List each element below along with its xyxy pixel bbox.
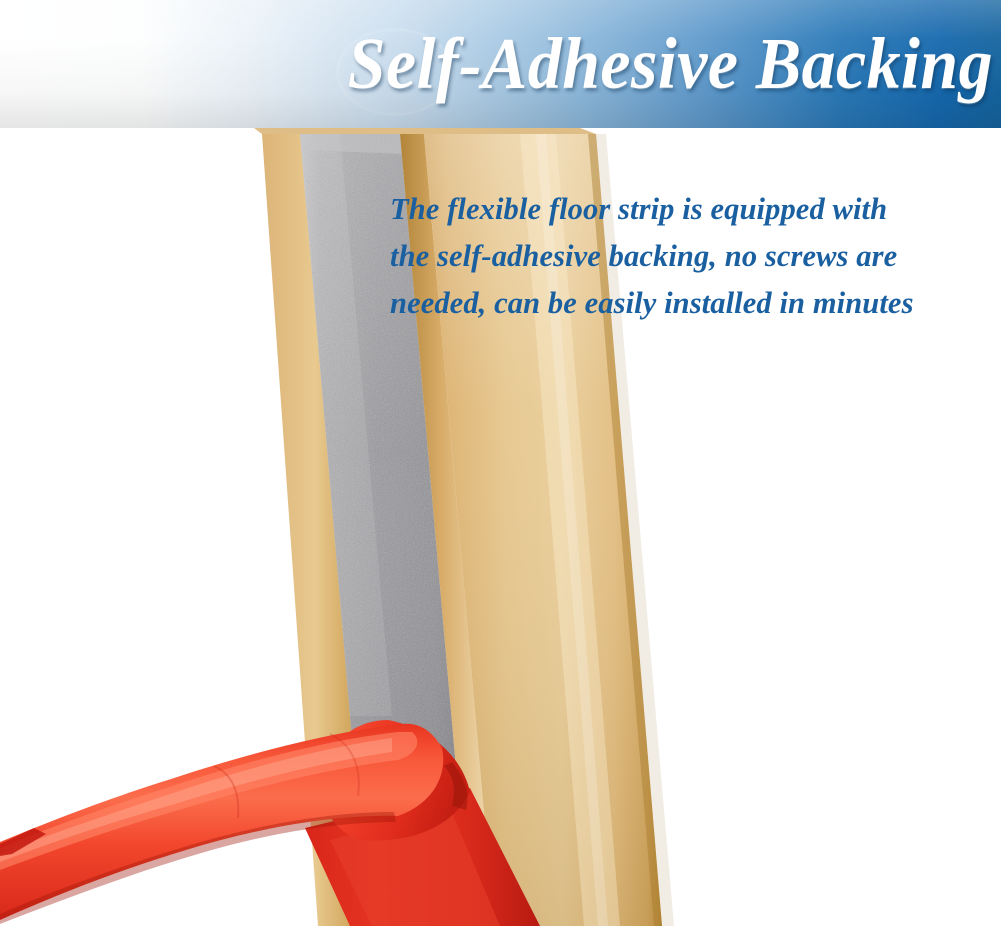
header-banner: Self-Adhesive Backing <box>0 0 1001 128</box>
description-line-1: The flexible floor strip is equipped wit… <box>390 186 992 233</box>
description-line-3: needed, can be easily installed in minut… <box>390 280 992 327</box>
description-line-2: the self-adhesive backing, no screws are <box>390 233 992 280</box>
strip-top-end-face <box>254 128 596 134</box>
product-feature-image: Self-Adhesive Backing <box>0 0 1001 926</box>
page-title: Self-Adhesive Backing <box>70 0 993 128</box>
description-text: The flexible floor strip is equipped wit… <box>390 186 992 327</box>
